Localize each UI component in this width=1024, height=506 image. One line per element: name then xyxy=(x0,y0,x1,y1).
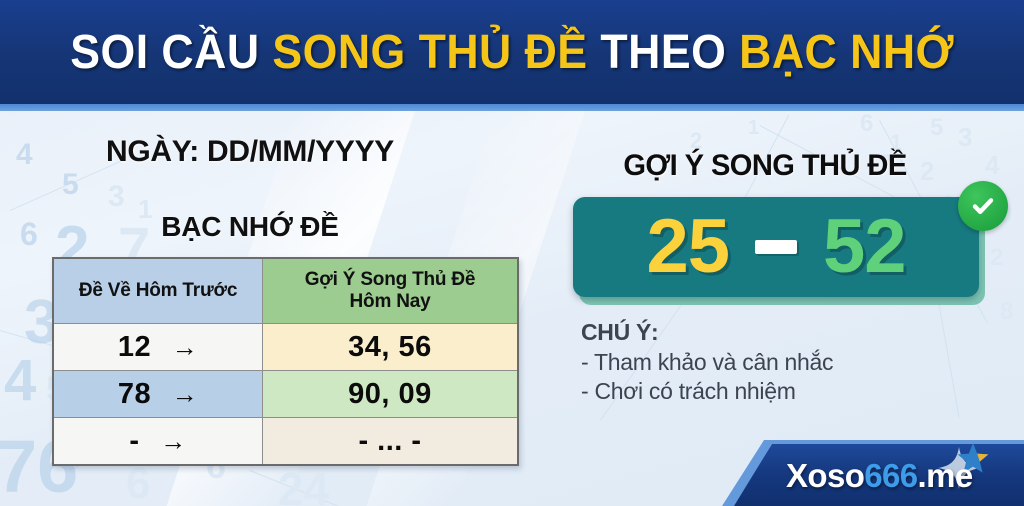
cell-previous-value: 78 xyxy=(118,378,151,410)
title-part-4: BẠC NHỚ xyxy=(739,26,954,79)
arrow-right-icon: → xyxy=(172,332,199,363)
section-subtitle: BẠC NHỚ ĐỀ xyxy=(0,211,500,243)
note-item: - Chơi có trách nhiệm xyxy=(581,377,961,406)
title-part-1: SOI CẦU xyxy=(70,26,272,79)
prediction-panel: 25 52 xyxy=(573,197,985,303)
prediction-separator-icon xyxy=(755,240,797,254)
column-header-suggestion-line2: Hôm Nay xyxy=(263,291,517,313)
cell-suggestion: 90, 09 xyxy=(263,371,519,418)
column-header-suggestion: Gợi Ý Song Thủ Đề Hôm Nay xyxy=(263,258,519,324)
prediction-box: 25 52 xyxy=(573,197,979,297)
check-icon xyxy=(958,181,1008,231)
header-divider xyxy=(0,104,1024,111)
cell-previous-value: - xyxy=(129,425,139,457)
notes-heading: CHÚ Ý: xyxy=(581,319,961,346)
logo-text: Xoso666.me xyxy=(786,457,973,495)
page-title: SOI CẦU SONG THỦ ĐỀ THEO BẠC NHỚ xyxy=(70,25,954,80)
header-banner: SOI CẦU SONG THỦ ĐỀ THEO BẠC NHỚ xyxy=(0,0,1024,104)
column-header-previous: Đề Về Hôm Trước xyxy=(53,258,263,324)
left-column: NGÀY: DD/MM/YYYY BẠC NHỚ ĐỀ Đề Về Hôm Tr… xyxy=(0,111,545,506)
bac-nho-table: Đề Về Hôm Trước Gợi Ý Song Thủ Đề Hôm Na… xyxy=(52,257,519,466)
prediction-number-second: 52 xyxy=(823,209,906,285)
column-header-suggestion-line1: Gợi Ý Song Thủ Đề xyxy=(263,269,517,291)
table-row: 12 → 34, 56 xyxy=(53,324,518,371)
cell-previous-value: 12 xyxy=(118,331,151,363)
poster-canvas: 4 5 3 1 6 2 7 3 4 5 7 76 6 6 24 6 5 1 3 … xyxy=(0,0,1024,506)
table-header-row: Đề Về Hôm Trước Gợi Ý Song Thủ Đề Hôm Na… xyxy=(53,258,518,324)
cell-suggestion: - ... - xyxy=(263,418,519,466)
note-item: - Tham khảo và cân nhắc xyxy=(581,348,961,377)
logo-text-a: Xoso xyxy=(786,457,864,494)
cell-suggestion: 34, 56 xyxy=(263,324,519,371)
cell-previous: 12 → xyxy=(53,324,263,371)
notes-block: CHÚ Ý: - Tham khảo và cân nhắc - Chơi có… xyxy=(581,319,961,407)
cell-previous: - → xyxy=(53,418,263,466)
date-label: NGÀY: DD/MM/YYYY xyxy=(0,135,500,169)
arrow-right-icon: → xyxy=(172,379,199,410)
prediction-title: GỢI Ý SONG THỦ ĐỀ xyxy=(552,149,979,183)
arrow-right-icon: → xyxy=(160,426,187,457)
table-row: 78 → 90, 09 xyxy=(53,371,518,418)
logo-text-c: .me xyxy=(918,457,973,494)
table-row: - → - ... - xyxy=(53,418,518,466)
site-logo-banner[interactable]: Xoso666.me xyxy=(694,440,1024,506)
title-part-3: THEO xyxy=(600,26,739,79)
prediction-number-first: 25 xyxy=(646,209,729,285)
cell-previous: 78 → xyxy=(53,371,263,418)
title-part-2: SONG THỦ ĐỀ xyxy=(272,26,600,79)
logo-text-b: 666 xyxy=(864,457,917,494)
